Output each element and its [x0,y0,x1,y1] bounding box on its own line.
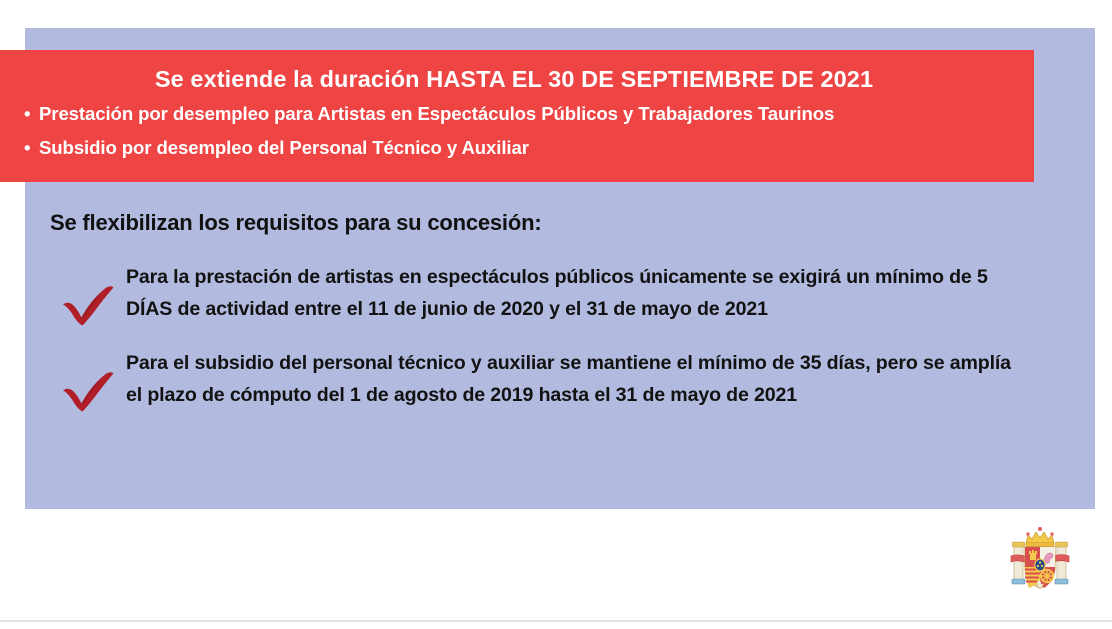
requirements-list: Para la prestación de artistas en espect… [50,262,1050,434]
bottom-divider [0,620,1112,622]
headline-title: Se extiende la duración HASTA EL 30 DE S… [20,66,1008,93]
list-item: Para la prestación de artistas en espect… [50,262,1050,326]
banner-bullet-label: Subsidio por desempleo del Personal Técn… [39,137,529,158]
list-item-text: Para el subsidio del personal técnico y … [126,348,1050,411]
spain-coat-of-arms-icon [992,515,1088,603]
list-item-text: Para la prestación de artistas en espect… [126,262,1050,325]
banner-bullet-item: •Prestación por desempleo para Artistas … [20,103,1008,125]
list-item: Para el subsidio del personal técnico y … [50,348,1050,412]
check-mark-icon [50,262,126,326]
banner-bullet-item: •Subsidio por desempleo del Personal Téc… [20,137,1008,159]
bullet-dot-icon: • [24,137,39,159]
headline-banner: Se extiende la duración HASTA EL 30 DE S… [0,50,1034,182]
bullet-dot-icon: • [24,103,39,125]
banner-bullet-label: Prestación por desempleo para Artistas e… [39,103,834,124]
section-subheading: Se flexibilizan los requisitos para su c… [50,210,541,236]
check-mark-icon [50,348,126,412]
